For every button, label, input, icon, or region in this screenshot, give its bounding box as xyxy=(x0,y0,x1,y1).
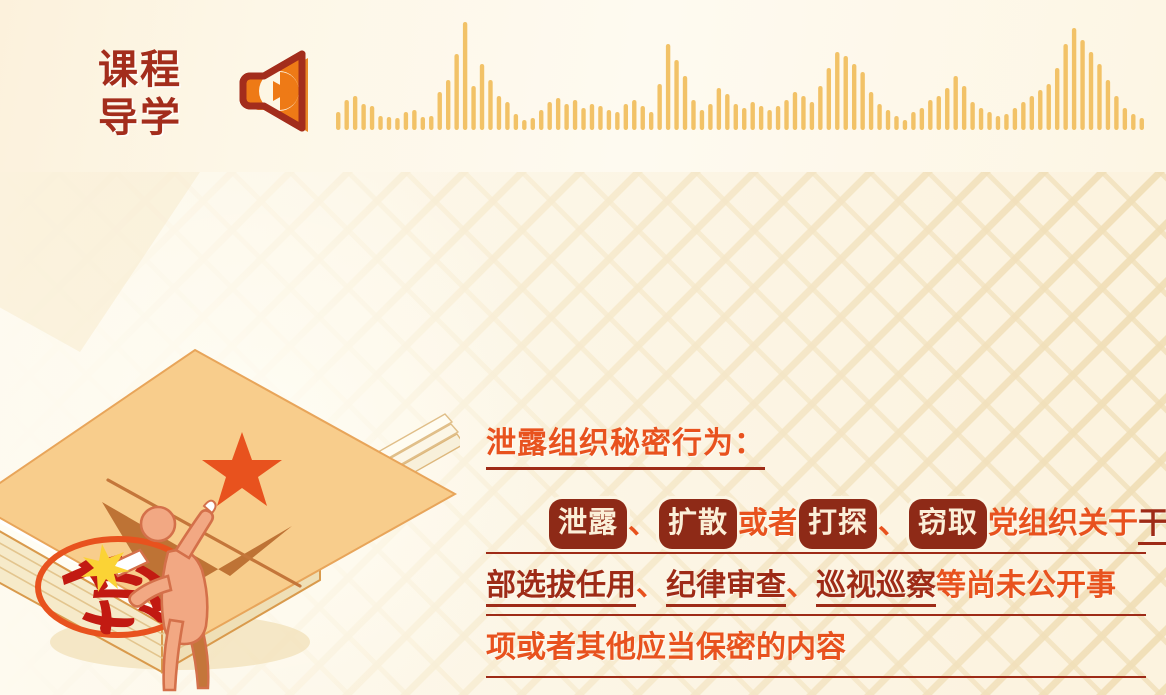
waveform-bar xyxy=(547,102,551,130)
waveform-bar xyxy=(497,96,501,130)
waveform-bar xyxy=(1038,90,1042,130)
waveform-bar xyxy=(615,112,619,130)
waveform-bar xyxy=(717,88,721,130)
waveform-bar xyxy=(480,64,484,130)
waveform-bar xyxy=(581,108,585,130)
waveform-bar xyxy=(412,110,416,130)
separator-1: 、 xyxy=(628,507,658,540)
tag-kuosan: 扩散 xyxy=(659,499,737,549)
text-confidential-content: 项或者其他应当保密的内容 xyxy=(486,631,846,664)
waveform-bar xyxy=(505,102,509,130)
waveform-bar xyxy=(378,116,382,130)
waveform-bar xyxy=(742,108,746,130)
section-heading-wrap: 泄露组织秘密行为： xyxy=(486,418,1146,470)
brand-title: 课程 导学 xyxy=(98,44,210,144)
waveform-bar xyxy=(632,100,636,130)
waveform-bar xyxy=(1097,64,1101,130)
separator-2: 、 xyxy=(878,507,908,540)
separator-3: 、 xyxy=(636,569,666,602)
waveform-bar xyxy=(429,116,433,130)
waveform-bar xyxy=(395,118,399,130)
waveform-bar xyxy=(556,98,560,130)
infographic-page: 课程 导学 xyxy=(0,0,1166,695)
text-undisclosed-matters: 等尚未公开事 xyxy=(936,569,1116,602)
waveform-bar xyxy=(1106,80,1110,130)
waveform-bar xyxy=(979,108,983,130)
waveform-bar xyxy=(801,96,805,130)
waveform-bar xyxy=(370,106,374,130)
waveform-bar xyxy=(835,52,839,130)
waveform-bar xyxy=(996,116,1000,130)
waveform-bar xyxy=(344,100,348,130)
waveform-bar xyxy=(827,68,831,130)
waveform-bar xyxy=(793,92,797,130)
waveform-bar xyxy=(1063,44,1067,130)
separator-4: 、 xyxy=(786,569,816,602)
waveform-bar xyxy=(725,94,729,130)
brand-title-line1: 课程 xyxy=(98,46,210,94)
key-term-inspection: 巡视巡察 xyxy=(816,569,936,607)
waveform-bar xyxy=(810,102,814,130)
waveform-bar xyxy=(776,106,780,130)
brand-title-line2: 导学 xyxy=(98,94,210,142)
header-bar: 课程 导学 xyxy=(0,0,1166,172)
waveform-bar xyxy=(657,84,661,130)
waveform-bar xyxy=(488,80,492,130)
paragraph-1-line-2: 部选拔任用、纪律审查、巡视巡察等尚未公开事 xyxy=(486,554,1146,616)
waveform-bar xyxy=(1030,96,1034,130)
waveform-bar xyxy=(1123,108,1127,130)
section-heading: 泄露组织秘密行为： xyxy=(486,418,765,470)
waveform-bar xyxy=(852,64,856,130)
waveform-bar xyxy=(1131,114,1135,130)
waveform-bar xyxy=(894,116,898,130)
waveform-bar xyxy=(1114,96,1118,130)
waveform-bar xyxy=(784,100,788,130)
waveform-bar xyxy=(734,104,738,130)
waveform-bar xyxy=(590,104,594,130)
waveform-bar xyxy=(666,44,670,130)
waveform-bar xyxy=(844,56,848,130)
waveform-bar xyxy=(522,120,526,130)
waveform-bar xyxy=(1072,28,1076,130)
tag-qiequ: 窃取 xyxy=(909,499,987,549)
waveform-bar xyxy=(336,112,340,130)
waveform-bar xyxy=(387,117,391,130)
waveform-bar xyxy=(421,117,425,130)
waveform-bar xyxy=(573,100,577,130)
waveform-bar xyxy=(987,112,991,130)
waveform-bar xyxy=(624,104,628,130)
waveform-bar xyxy=(877,104,881,130)
waveform-bar xyxy=(1021,102,1025,130)
waveform-bar xyxy=(607,110,611,130)
waveform-bar xyxy=(641,106,645,130)
waveform-bar xyxy=(539,110,543,130)
text-content: 泄露组织秘密行为： 泄露、扩散或者打探、窃取党组织关于干 部选拔任用、纪律审查、… xyxy=(486,418,1146,695)
waveform-bar xyxy=(911,112,915,130)
waveform-bar xyxy=(1013,108,1017,130)
waveform-bar xyxy=(564,104,568,130)
paragraph-1-line-3: 项或者其他应当保密的内容 xyxy=(486,616,1146,678)
waveform-bar xyxy=(1055,68,1059,130)
waveform-bar xyxy=(353,96,357,130)
conjunction-huozhe: 或者 xyxy=(738,507,798,540)
waveform-bar xyxy=(945,88,949,130)
waveform-bar xyxy=(928,100,932,130)
waveform-bar xyxy=(860,72,864,130)
waveform-bar xyxy=(750,102,754,130)
paragraph-1-line-1: 泄露、扩散或者打探、窃取党组织关于干 xyxy=(486,492,1146,554)
waveform-bar xyxy=(970,102,974,130)
waveform-bar xyxy=(691,100,695,130)
waveform-bar xyxy=(649,112,653,130)
waveform-bar xyxy=(446,80,450,130)
waveform-bar xyxy=(598,106,602,130)
paragraph-1: 泄露、扩散或者打探、窃取党组织关于干 部选拔任用、纪律审查、巡视巡察等尚未公开事… xyxy=(486,492,1146,678)
waveform-bar xyxy=(361,104,365,130)
key-term-gan: 干 xyxy=(1138,507,1166,545)
waveform-bar xyxy=(1089,52,1093,130)
audio-waveform xyxy=(334,22,1146,140)
megaphone-play-icon[interactable] xyxy=(228,48,320,142)
waveform-bar xyxy=(531,118,535,130)
waveform-bar xyxy=(953,76,957,130)
content-stage: 泄露组织秘密行为： 泄露、扩散或者打探、窃取党组织关于干 部选拔任用、纪律审查、… xyxy=(0,172,1166,695)
secret-document-illustration xyxy=(0,172,460,695)
key-term-discipline-review: 纪律审查 xyxy=(666,569,786,607)
waveform-bar xyxy=(886,110,890,130)
waveform-bar xyxy=(454,54,458,130)
waveform-bar xyxy=(683,76,687,130)
waveform-bar xyxy=(404,112,408,130)
waveform-bar xyxy=(514,114,518,130)
waveform-bar xyxy=(869,92,873,130)
waveform-bar xyxy=(1140,118,1144,130)
waveform-bar xyxy=(962,86,966,130)
waveform-bar xyxy=(708,104,712,130)
waveform-bar xyxy=(674,60,678,130)
waveform-bar xyxy=(1080,40,1084,130)
waveform-bar xyxy=(1047,84,1051,130)
waveform-bar xyxy=(700,110,704,130)
waveform-bar xyxy=(767,110,771,130)
waveform-bar xyxy=(438,92,442,130)
waveform-bar xyxy=(759,106,763,130)
tag-xielou: 泄露 xyxy=(549,499,627,549)
waveform-bar xyxy=(937,96,941,130)
waveform-bar xyxy=(903,120,907,130)
waveform-bar xyxy=(471,86,475,130)
key-term-cadre-selection: 部选拔任用 xyxy=(486,569,636,607)
tag-datan: 打探 xyxy=(799,499,877,549)
waveform-bar xyxy=(920,108,924,130)
waveform-bar xyxy=(818,86,822,130)
waveform-bar xyxy=(463,22,467,130)
waveform-bar xyxy=(1004,114,1008,130)
text-dangzuzhi-guanyu: 党组织关于 xyxy=(988,507,1138,540)
